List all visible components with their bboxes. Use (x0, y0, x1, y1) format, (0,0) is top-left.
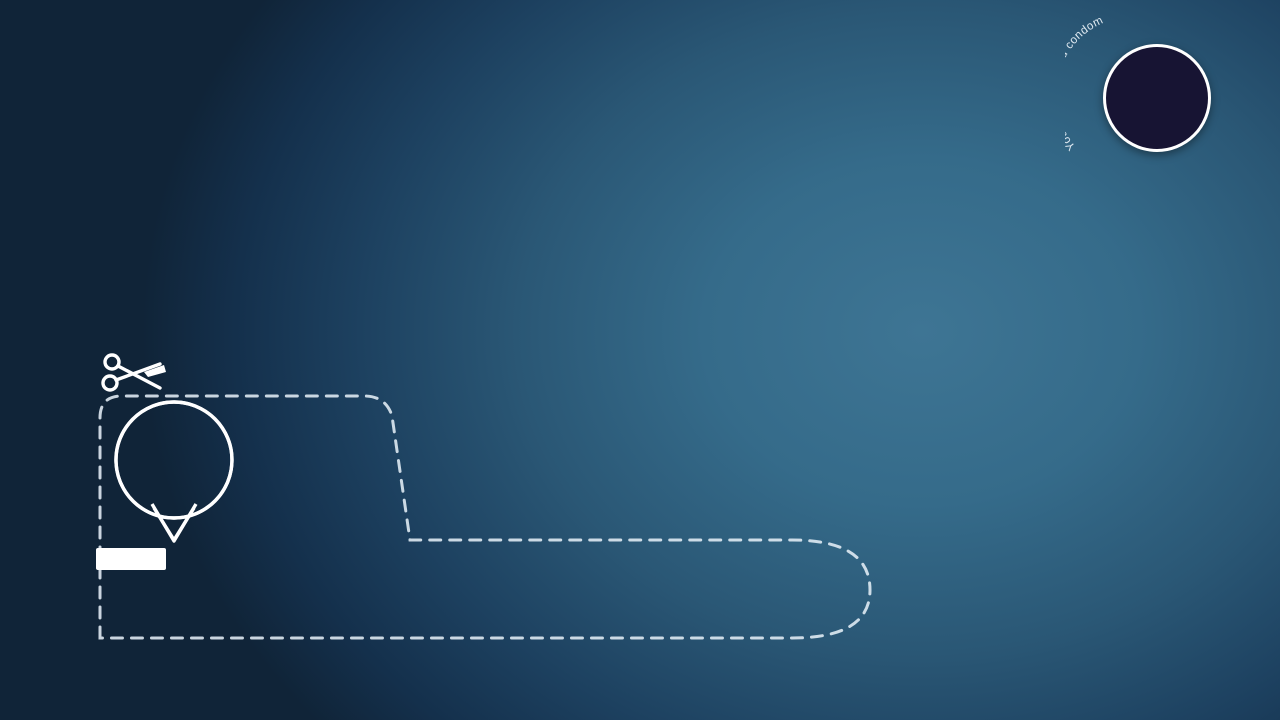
poster-canvas: Your perfect sized condom (0, 0, 1280, 720)
scissors-icon (100, 352, 172, 400)
brand-badge: Your perfect sized condom (1103, 44, 1211, 152)
title-line-secondary (140, 66, 166, 128)
mysize-speech-bubble (110, 396, 238, 546)
brand-tagline-text: Your perfect sized condom (1065, 14, 1105, 152)
cutout-ruler-area (92, 388, 882, 670)
ruler-tick-marks (92, 540, 882, 666)
ruler-caption (260, 490, 292, 526)
page-title (140, 48, 166, 128)
brand-logo-circle (1103, 44, 1211, 152)
flexible-ruler (92, 540, 882, 666)
speech-bubble-shape (110, 396, 238, 546)
